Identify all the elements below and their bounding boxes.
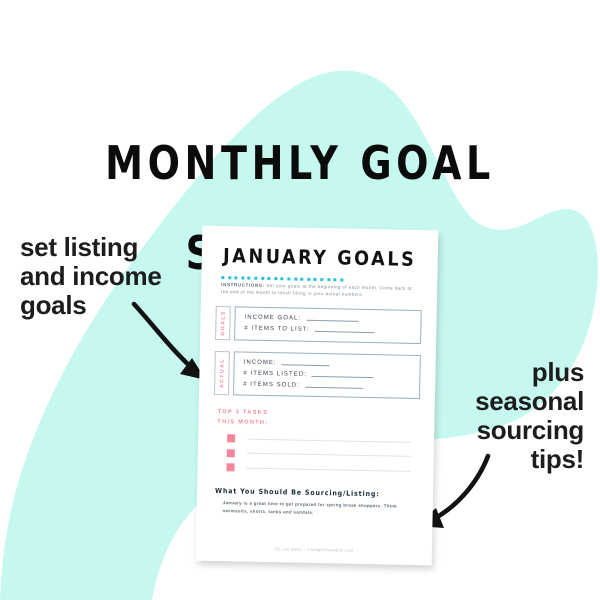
checkbox-square-icon[interactable] xyxy=(227,435,235,443)
instructions-label: INSTRUCTIONS: xyxy=(221,282,265,288)
field-items-to-list-rule xyxy=(315,331,375,333)
field-items-listed-label: # ITEMS LISTED: xyxy=(243,371,307,378)
field-items-to-list[interactable]: # ITEMS TO LIST: xyxy=(244,326,411,335)
field-items-listed[interactable]: # ITEMS LISTED: xyxy=(243,371,410,380)
worksheet-title: JANUARY GOALS xyxy=(217,244,423,271)
field-items-sold-label: # ITEMS SOLD: xyxy=(243,382,300,389)
sourcing-section-heading: What You Should Be Sourcing/Listing: xyxy=(215,487,418,499)
task-write-in-rule xyxy=(247,453,411,457)
checkbox-square-icon[interactable] xyxy=(227,449,235,457)
field-income-rule xyxy=(282,364,330,366)
poster-canvas: MONTHLY GOAL SETTING set listing and inc… xyxy=(0,0,600,600)
field-items-listed-rule xyxy=(312,376,374,378)
goals-section: GOALS INCOME GOAL: # ITEMS TO LIST: xyxy=(215,306,422,344)
task-row[interactable] xyxy=(227,449,419,461)
task-write-in-rule xyxy=(247,467,411,471)
actual-section: ACTUAL INCOME: # ITEMS LISTED: # ITEMS S… xyxy=(214,351,421,399)
goals-section-tab: GOALS xyxy=(215,306,231,340)
goals-field-box: INCOME GOAL: # ITEMS TO LIST: xyxy=(234,307,422,345)
tasks-section-heading: TOP 3 TASKS THIS MONTH: xyxy=(217,408,419,432)
actual-field-box: INCOME: # ITEMS LISTED: # ITEMS SOLD: xyxy=(233,352,421,400)
field-income-goal-label: INCOME GOAL: xyxy=(244,315,301,322)
field-items-sold[interactable]: # ITEMS SOLD: xyxy=(243,382,410,391)
field-income-goal-rule xyxy=(306,320,358,322)
task-row[interactable] xyxy=(227,435,419,447)
goals-tab-label: GOALS xyxy=(220,310,227,336)
instructions-paragraph: INSTRUCTIONS: Set your goals at the begi… xyxy=(221,281,417,299)
worksheet-footer-copyright: (C) Lee Meier - ListingToFreedom.com xyxy=(196,545,432,555)
field-income-label: INCOME: xyxy=(244,360,277,367)
field-items-sold-rule xyxy=(305,387,363,389)
field-income[interactable]: INCOME: xyxy=(244,360,411,369)
printable-worksheet-preview[interactable]: JANUARY GOALS INSTRUCTIONS: Set your goa… xyxy=(196,226,439,566)
actual-section-tab: ACTUAL xyxy=(214,351,230,395)
field-items-to-list-label: # ITEMS TO LIST: xyxy=(244,326,309,333)
task-write-in-rule xyxy=(247,438,411,442)
task-row[interactable] xyxy=(226,464,418,476)
field-income-goal[interactable]: INCOME GOAL: xyxy=(244,315,411,324)
tasks-list xyxy=(212,434,419,475)
page-title-line-1: MONTHLY GOAL xyxy=(24,141,576,186)
actual-tab-label: ACTUAL xyxy=(219,358,226,388)
sourcing-section-body: January is a great time to get prepared … xyxy=(223,499,413,518)
checkbox-square-icon[interactable] xyxy=(226,464,234,472)
worksheet-page: JANUARY GOALS INSTRUCTIONS: Set your goa… xyxy=(196,226,439,566)
